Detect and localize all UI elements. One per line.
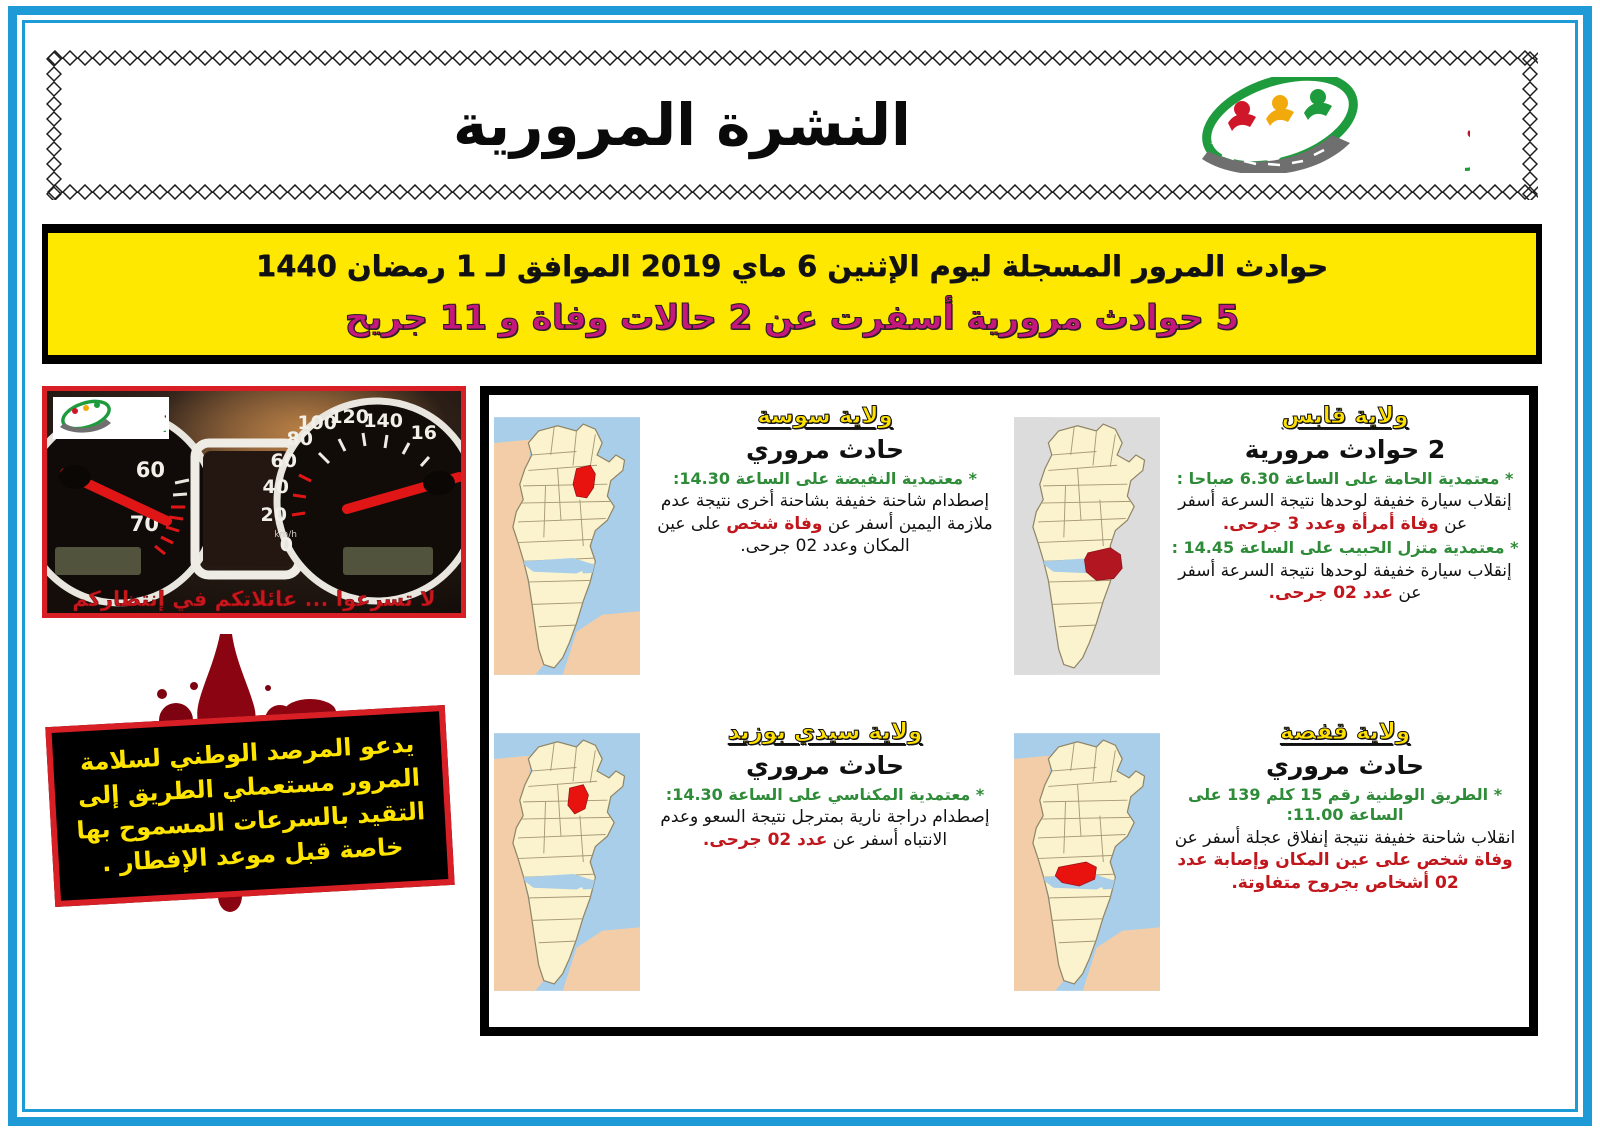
observatory-logo: المرصد الوطني لسلامة المرور xyxy=(1160,77,1490,173)
event-description: إنقلاب سيارة خفيفة لوحدها نتيجة السرعة أ… xyxy=(1171,560,1519,605)
dashboard-logo-watermark: المرصد الوطني لسلامة المرور xyxy=(53,397,169,439)
dashboard-photo-card: 60 70 xyxy=(42,386,466,618)
logo-icon: المرصد الوطني لسلامة المرور xyxy=(1180,77,1470,173)
event-description: انقلاب شاحنة خفيفة نتيجة إنفلاق عجلة أسف… xyxy=(1171,827,1519,894)
safety-notice-text: يدعو المرصد الوطني لسلامة المرور مستعملي… xyxy=(68,726,431,882)
logo-text-line1: المرصد الوطني xyxy=(1466,112,1470,142)
accident-count: 2 حوادث مرورية xyxy=(1171,435,1519,464)
governorate-name: ولاية سوسة xyxy=(651,403,999,429)
event-description: إنقلاب سيارة خفيفة لوحدها نتيجة السرعة أ… xyxy=(1171,490,1519,535)
svg-text:16: 16 xyxy=(411,422,437,444)
sheet: المرصد الوطني لسلامة المرور النشرة المرو… xyxy=(30,28,1570,1104)
tunisia-map xyxy=(494,405,640,687)
svg-text:20: 20 xyxy=(261,504,287,526)
event-description: إصطدام شاحنة خفيفة بشاحنة أخرى نتيجة عدم… xyxy=(651,490,999,557)
governorate-name: ولاية قابس xyxy=(1171,403,1519,429)
tunisia-map-sousse-highlighted xyxy=(491,399,643,707)
governorate-name: ولاية قفصة xyxy=(1171,719,1519,745)
summary-banner: حوادث المرور المسجلة ليوم الإثنين 6 ماي … xyxy=(42,224,1542,364)
governorate-panel: ولاية قابس 2 حوادث مرورية * معتمدية الحا… xyxy=(480,386,1538,1036)
dashboard-caption: لا تسرعوا ... عائلاتكم في إنتظاركم xyxy=(47,587,461,611)
logo-text-line2: لسلامة المرور xyxy=(1464,142,1470,172)
traffic-bulletin-page: المرصد الوطني لسلامة المرور النشرة المرو… xyxy=(0,0,1600,1132)
event-time: * معتمدية متزل الحبيب على الساعة 14.45 : xyxy=(1171,538,1519,558)
tunisia-map-sidi-bouzid-highlighted xyxy=(491,715,643,1023)
accident-count: حادث مروري xyxy=(651,751,999,780)
tunisia-map xyxy=(1014,721,1160,1003)
event-desc-highlight: وفاة أمرأة وعدد 3 جرحى. xyxy=(1223,514,1439,534)
highlighted-governorate xyxy=(1084,548,1122,581)
event-desc-highlight: عدد 02 جرحى. xyxy=(1269,583,1393,603)
governorate-cell: ولاية سوسة حادث مروري * معتمدية النفيضة … xyxy=(489,395,1009,711)
governorate-cell: ولاية سيدي بوزيد حادث مروري * معتمدية ال… xyxy=(489,711,1009,1027)
diamond-border-right xyxy=(1522,50,1538,200)
tunisia-map xyxy=(494,721,640,1003)
event-description: إصطدام دراجة نارية بمترجل نتيجة السعو وع… xyxy=(651,806,999,851)
header-block: المرصد الوطني لسلامة المرور النشرة المرو… xyxy=(46,50,1538,200)
event-desc-highlight: عدد 02 جرحى. xyxy=(703,830,827,850)
safety-notice-box: يدعو المرصد الوطني لسلامة المرور مستعملي… xyxy=(45,705,454,907)
event-time: * معتمدية النفيضة على الساعة 14.30: xyxy=(651,469,999,489)
svg-text:المرصد الوطني: المرصد الوطني xyxy=(164,410,166,420)
governorate-name: ولاية سيدي بوزيد xyxy=(651,719,999,745)
svg-text:140: 140 xyxy=(363,410,403,432)
tunisia-map-gafsa-highlighted xyxy=(1011,715,1163,1023)
page-title: النشرة المرورية xyxy=(64,91,1160,159)
svg-text:60: 60 xyxy=(136,458,165,482)
event-time: * معتمدية الحامة على الساعة 6.30 صباحا : xyxy=(1171,469,1519,489)
banner-date-line: حوادث المرور المسجلة ليوم الإثنين 6 ماي … xyxy=(256,250,1328,283)
logo-icon-small: المرصد الوطني لسلامة المرور xyxy=(56,399,166,437)
accident-count: حادث مروري xyxy=(651,435,999,464)
governorate-cell: ولاية قفصة حادث مروري * الطريق الوطنية ر… xyxy=(1009,711,1529,1027)
accident-count: حادث مروري xyxy=(1171,751,1519,780)
svg-text:km/h: km/h xyxy=(274,530,297,540)
svg-text:لسلامة المرور: لسلامة المرور xyxy=(163,423,166,433)
svg-text:60: 60 xyxy=(271,450,297,472)
event-time: * معتمدية المكناسي على الساعة 14.30: xyxy=(651,785,999,805)
event-time: * الطريق الوطنية رقم 15 كلم 139 على السا… xyxy=(1171,785,1519,826)
diamond-border-bottom xyxy=(46,184,1538,200)
svg-text:40: 40 xyxy=(263,476,289,498)
diamond-border-left xyxy=(46,50,62,200)
governorate-cell: ولاية قابس 2 حوادث مرورية * معتمدية الحا… xyxy=(1009,395,1529,711)
tunisia-map xyxy=(1014,405,1160,687)
blood-graphic-area: يدعو المرصد الوطني لسلامة المرور مستعملي… xyxy=(42,624,466,1024)
event-desc-highlight: وفاة شخص xyxy=(726,514,822,534)
tunisia-map-gabes-highlighted xyxy=(1011,399,1163,707)
event-desc-highlight: وفاة شخص xyxy=(1416,850,1512,870)
diamond-border-top xyxy=(46,50,1538,66)
left-column: 60 70 xyxy=(36,386,466,1026)
event-desc-before: انقلاب شاحنة خفيفة نتيجة إنفلاق عجلة أسف… xyxy=(1175,828,1516,848)
banner-summary-line: 5 حوادث مرورية أسفرت عن 2 حالات وفاة و 1… xyxy=(345,299,1239,338)
